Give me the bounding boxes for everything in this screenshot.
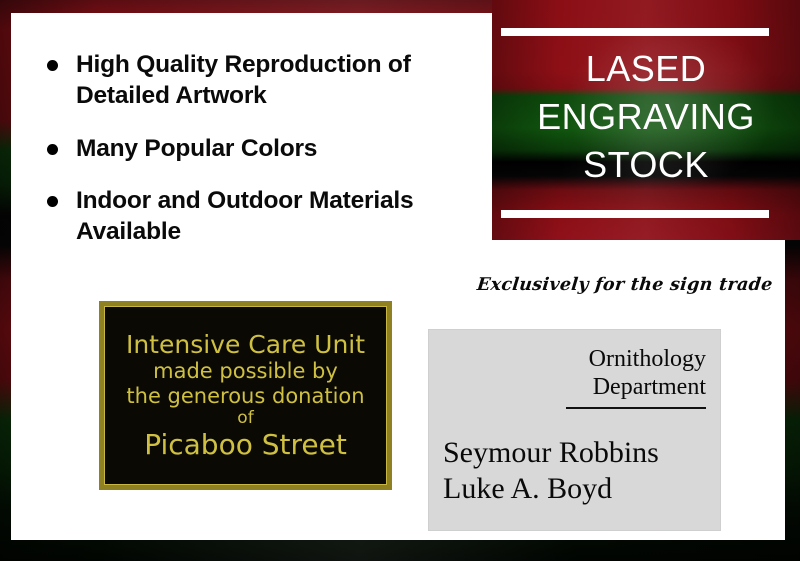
nameplate-department-line-1: Ornithology — [429, 346, 706, 374]
gold-sign-line-3: the generous donation — [126, 384, 364, 409]
nameplate-names: Seymour Robbins Luke A. Boyd — [429, 409, 720, 507]
gray-nameplate-sign: Ornithology Department Seymour Robbins L… — [428, 329, 721, 531]
header-title: LASED ENGRAVING STOCK — [492, 45, 800, 189]
bullet-dot-icon — [47, 144, 58, 155]
feature-text: Indoor and Outdoor Materials Available — [76, 187, 413, 245]
gold-sign-line-2: made possible by — [153, 359, 338, 384]
header-rule-bottom — [501, 210, 769, 218]
bullet-dot-icon — [47, 196, 58, 207]
nameplate-department-line-2: Department — [429, 374, 706, 402]
list-item: Indoor and Outdoor Materials Available — [37, 185, 487, 248]
list-item: High Quality Reproduction of Detailed Ar… — [37, 49, 487, 112]
nameplate-department: Ornithology Department — [429, 330, 720, 402]
bullet-dot-icon — [47, 60, 58, 71]
list-item: Many Popular Colors — [37, 133, 487, 164]
nameplate-name-1: Seymour Robbins — [443, 435, 720, 471]
feature-text: High Quality Reproduction of Detailed Ar… — [76, 51, 411, 109]
header-title-line-2: ENGRAVING — [492, 93, 800, 141]
feature-text: Many Popular Colors — [76, 135, 317, 162]
gold-engraved-sign: Intensive Care Unit made possible by the… — [99, 301, 392, 490]
gold-sign-line-4: of — [237, 408, 253, 428]
feature-bullet-list: High Quality Reproduction of Detailed Ar… — [37, 49, 487, 248]
tagline: Exclusively for the sign trade — [476, 275, 774, 295]
header-title-line-1: LASED — [492, 45, 800, 93]
header-rule-top — [501, 28, 769, 36]
header-title-line-3: STOCK — [492, 141, 800, 189]
slide-canvas: High Quality Reproduction of Detailed Ar… — [0, 0, 800, 561]
nameplate-name-2: Luke A. Boyd — [443, 471, 720, 507]
gold-sign-line-5: Picaboo Street — [144, 429, 347, 460]
gold-sign-line-1: Intensive Care Unit — [126, 331, 365, 359]
header-banner: LASED ENGRAVING STOCK — [492, 0, 800, 240]
